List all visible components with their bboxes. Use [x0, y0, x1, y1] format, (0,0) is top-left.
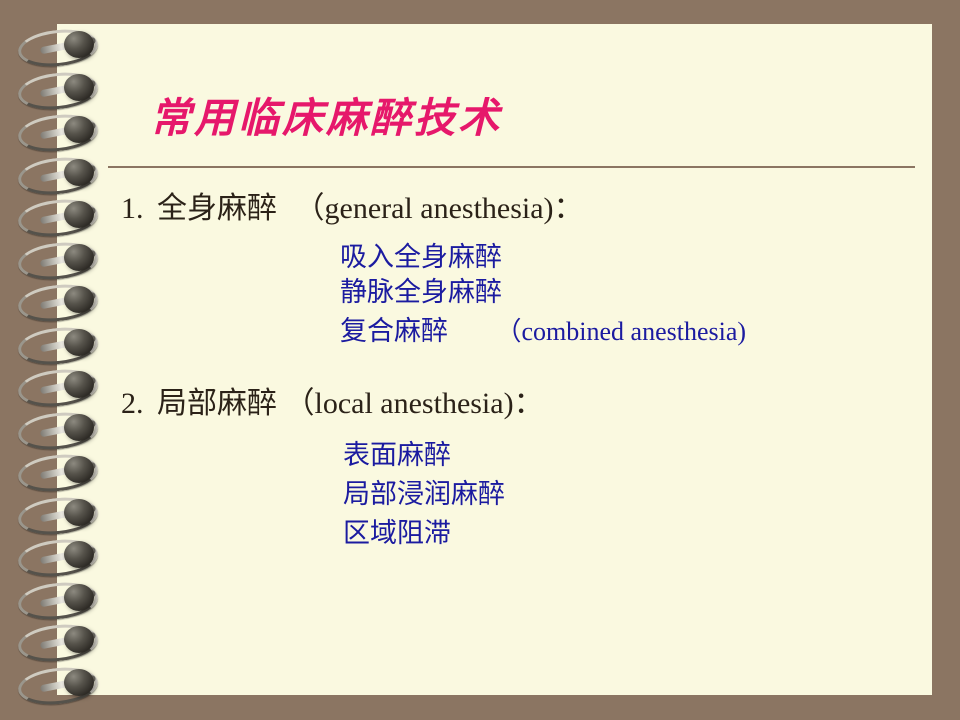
- notebook-page: 常用临床麻醉技术 1. 全身麻醉 （general anesthesia)： 吸…: [57, 24, 932, 695]
- item-1-label-cn: 全身麻醉: [157, 192, 277, 225]
- list-item-2: 2. 局部麻醉 （local anesthesia)：: [121, 385, 544, 423]
- sub-item-1-1-cn: 吸入全身麻醉: [340, 242, 502, 272]
- sub-item-1-3-en: （combined anesthesia): [496, 317, 747, 346]
- item-2-label-en: （local anesthesia)：: [285, 387, 544, 420]
- page-title: 常用临床麻醉技术: [150, 92, 502, 144]
- sub-item-2-1-cn: 表面麻醉: [343, 440, 451, 470]
- slide-canvas: 常用临床麻醉技术 1. 全身麻醉 （general anesthesia)： 吸…: [0, 0, 960, 720]
- item-2-number: 2.: [121, 387, 144, 420]
- sub-item-2-3-cn: 区域阻滞: [343, 518, 451, 548]
- item-2-label-cn: 局部麻醉: [157, 387, 277, 420]
- sub-item-2-2: 局部浸润麻醉: [343, 477, 505, 511]
- title-divider: [108, 166, 915, 168]
- list-item-1: 1. 全身麻醉 （general anesthesia)：: [121, 190, 584, 228]
- sub-item-1-3: 复合麻醉 （combined anesthesia): [340, 314, 746, 349]
- sub-item-2-2-cn: 局部浸润麻醉: [343, 479, 505, 509]
- sub-item-1-3-cn: 复合麻醉: [340, 316, 448, 346]
- sub-item-1-2-cn: 静脉全身麻醉: [340, 277, 502, 307]
- sub-item-2-1: 表面麻醉: [343, 438, 451, 472]
- sub-item-1-1: 吸入全身麻醉: [340, 240, 502, 274]
- sub-item-1-2: 静脉全身麻醉: [340, 275, 502, 309]
- sub-item-2-3: 区域阻滞: [343, 516, 451, 550]
- item-1-label-en: （general anesthesia)：: [295, 192, 584, 225]
- item-1-number: 1.: [121, 192, 144, 225]
